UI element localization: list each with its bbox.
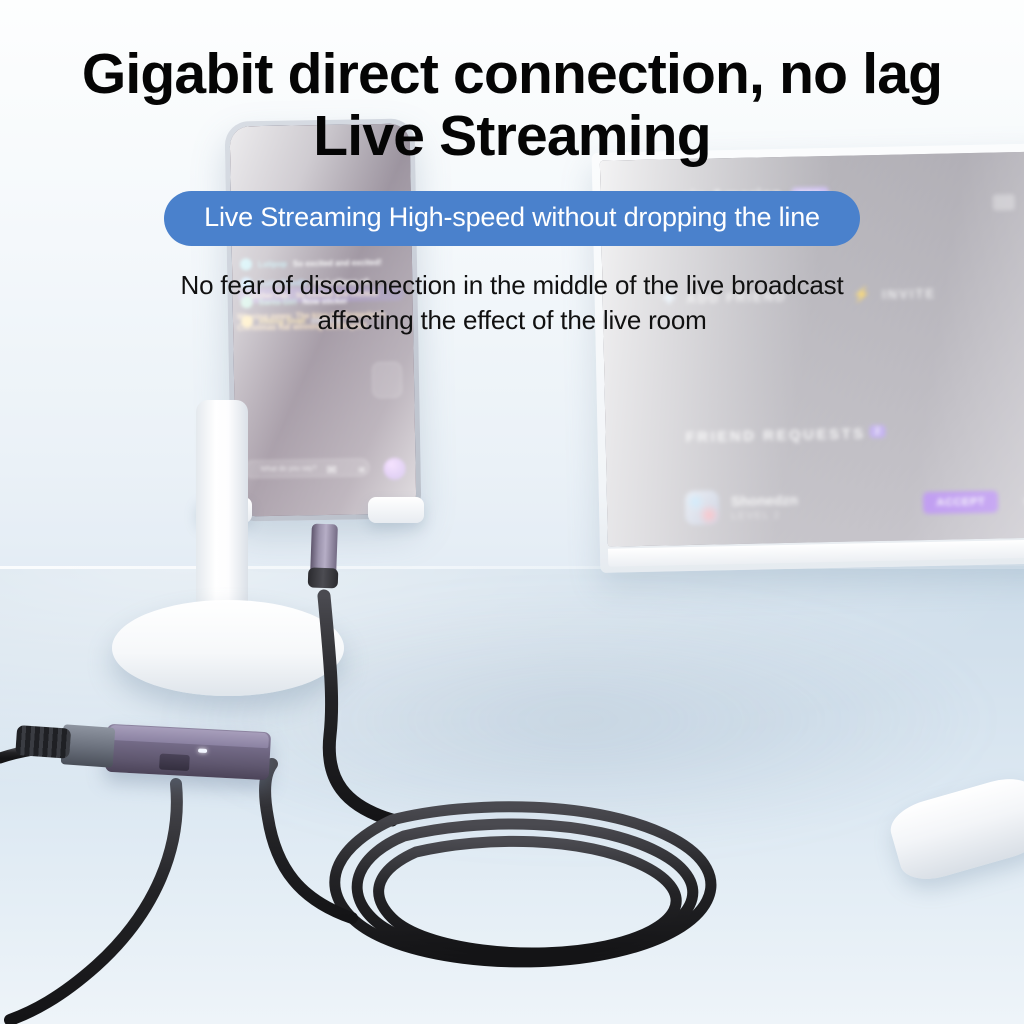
led-indicator — [198, 749, 207, 753]
phone-stand-arm-right — [368, 497, 424, 523]
subcopy-line-1: No fear of disconnection in the middle o… — [181, 270, 844, 300]
spacer — [810, 503, 911, 505]
usb-c-port — [159, 754, 190, 772]
phone-stand-base — [112, 600, 344, 696]
marketing-copy: Gigabit direct connection, no lag Live S… — [0, 0, 1024, 338]
page-title: Gigabit direct connection, no lag Live S… — [0, 0, 1024, 167]
subcopy-line-2: affecting the effect of the live room — [62, 303, 962, 338]
friend-request-name: Shonedzn — [731, 491, 798, 508]
description-text: No fear of disconnection in the middle o… — [62, 268, 962, 338]
feature-banner: Live Streaming High-speed without droppi… — [164, 191, 860, 246]
accept-button[interactable]: ACCEPT — [923, 491, 998, 515]
headline-line-2: Live Streaming — [0, 106, 1024, 168]
ethernet-adapter — [105, 724, 271, 781]
friend-request-row[interactable]: Shonedzn LEVEL 2 ACCEPT × — [685, 484, 1024, 525]
phone-stand-post — [196, 400, 248, 630]
friend-request-level: LEVEL 2 — [731, 509, 798, 521]
headline-line-1: Gigabit direct connection, no lag — [82, 42, 942, 106]
usb-c-connector-phone — [310, 524, 338, 577]
rj45-ethernet-plug — [61, 724, 116, 768]
friend-requests-header: FRIEND REQUESTS 2 — [685, 425, 885, 446]
product-poster: ain America PRO ✚ ADD FRIEND ⚡ INVITE — [0, 0, 1024, 1024]
avatar — [685, 490, 720, 525]
friend-requests-count: 2 — [869, 425, 885, 438]
friend-request-info: Shonedzn LEVEL 2 — [731, 491, 798, 521]
friend-requests-title: FRIEND REQUESTS — [685, 425, 865, 446]
